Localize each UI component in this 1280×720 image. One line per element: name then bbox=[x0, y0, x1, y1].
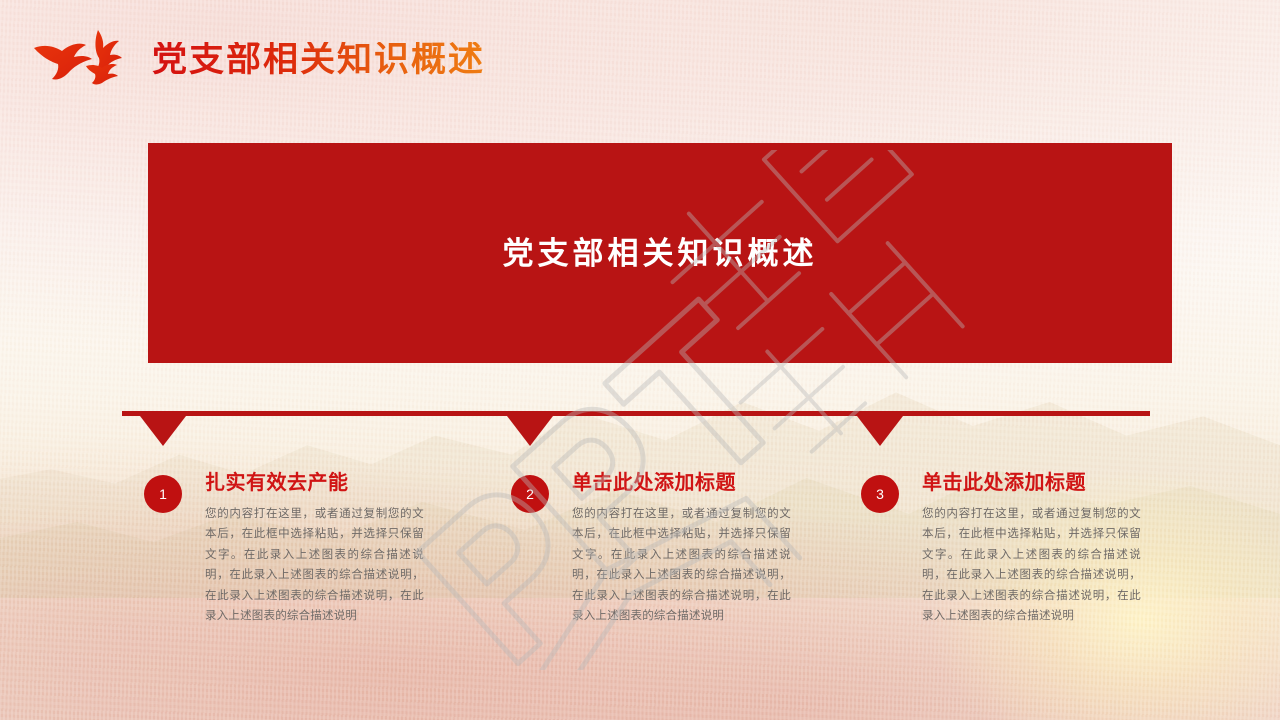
column-title: 单击此处添加标题 bbox=[572, 472, 791, 495]
presentation-slide: 党支部相关知识概述 党支部相关知识概述 1 扎实有效去产能 您的内容打在这里，或… bbox=[0, 0, 1280, 720]
section-divider bbox=[122, 411, 1150, 416]
triangle-down-icon-2 bbox=[507, 416, 553, 446]
column-description: 您的内容打在这里，或者通过复制您的文本后，在此框中选择粘贴，并选择只保留文字。在… bbox=[572, 504, 791, 627]
column-number-badge: 3 bbox=[861, 475, 899, 513]
column-number-badge: 2 bbox=[511, 475, 549, 513]
column-body: 扎实有效去产能 您的内容打在这里，或者通过复制您的文本后，在此框中选择粘贴，并选… bbox=[205, 472, 424, 627]
column-title: 单击此处添加标题 bbox=[922, 472, 1141, 495]
content-column-3: 3 单击此处添加标题 您的内容打在这里，或者通过复制您的文本后，在此框中选择粘贴… bbox=[861, 472, 1141, 627]
content-column-1: 1 扎实有效去产能 您的内容打在这里，或者通过复制您的文本后，在此框中选择粘贴，… bbox=[144, 472, 424, 627]
column-title: 扎实有效去产能 bbox=[205, 472, 424, 495]
column-number-badge: 1 bbox=[144, 475, 182, 513]
doves-icon bbox=[24, 24, 144, 86]
column-body: 单击此处添加标题 您的内容打在这里，或者通过复制您的文本后，在此框中选择粘贴，并… bbox=[572, 472, 791, 627]
column-body: 单击此处添加标题 您的内容打在这里，或者通过复制您的文本后，在此框中选择粘贴，并… bbox=[922, 472, 1141, 627]
triangle-down-icon-3 bbox=[857, 416, 903, 446]
column-description: 您的内容打在这里，或者通过复制您的文本后，在此框中选择粘贴，并选择只保留文字。在… bbox=[205, 504, 424, 627]
triangle-down-icon-1 bbox=[140, 416, 186, 446]
column-description: 您的内容打在这里，或者通过复制您的文本后，在此框中选择粘贴，并选择只保留文字。在… bbox=[922, 504, 1141, 627]
content-column-2: 2 单击此处添加标题 您的内容打在这里，或者通过复制您的文本后，在此框中选择粘贴… bbox=[511, 472, 791, 627]
content-banner: 党支部相关知识概述 bbox=[148, 143, 1172, 363]
page-title: 党支部相关知识概述 bbox=[152, 42, 485, 77]
banner-title: 党支部相关知识概述 bbox=[503, 238, 818, 269]
